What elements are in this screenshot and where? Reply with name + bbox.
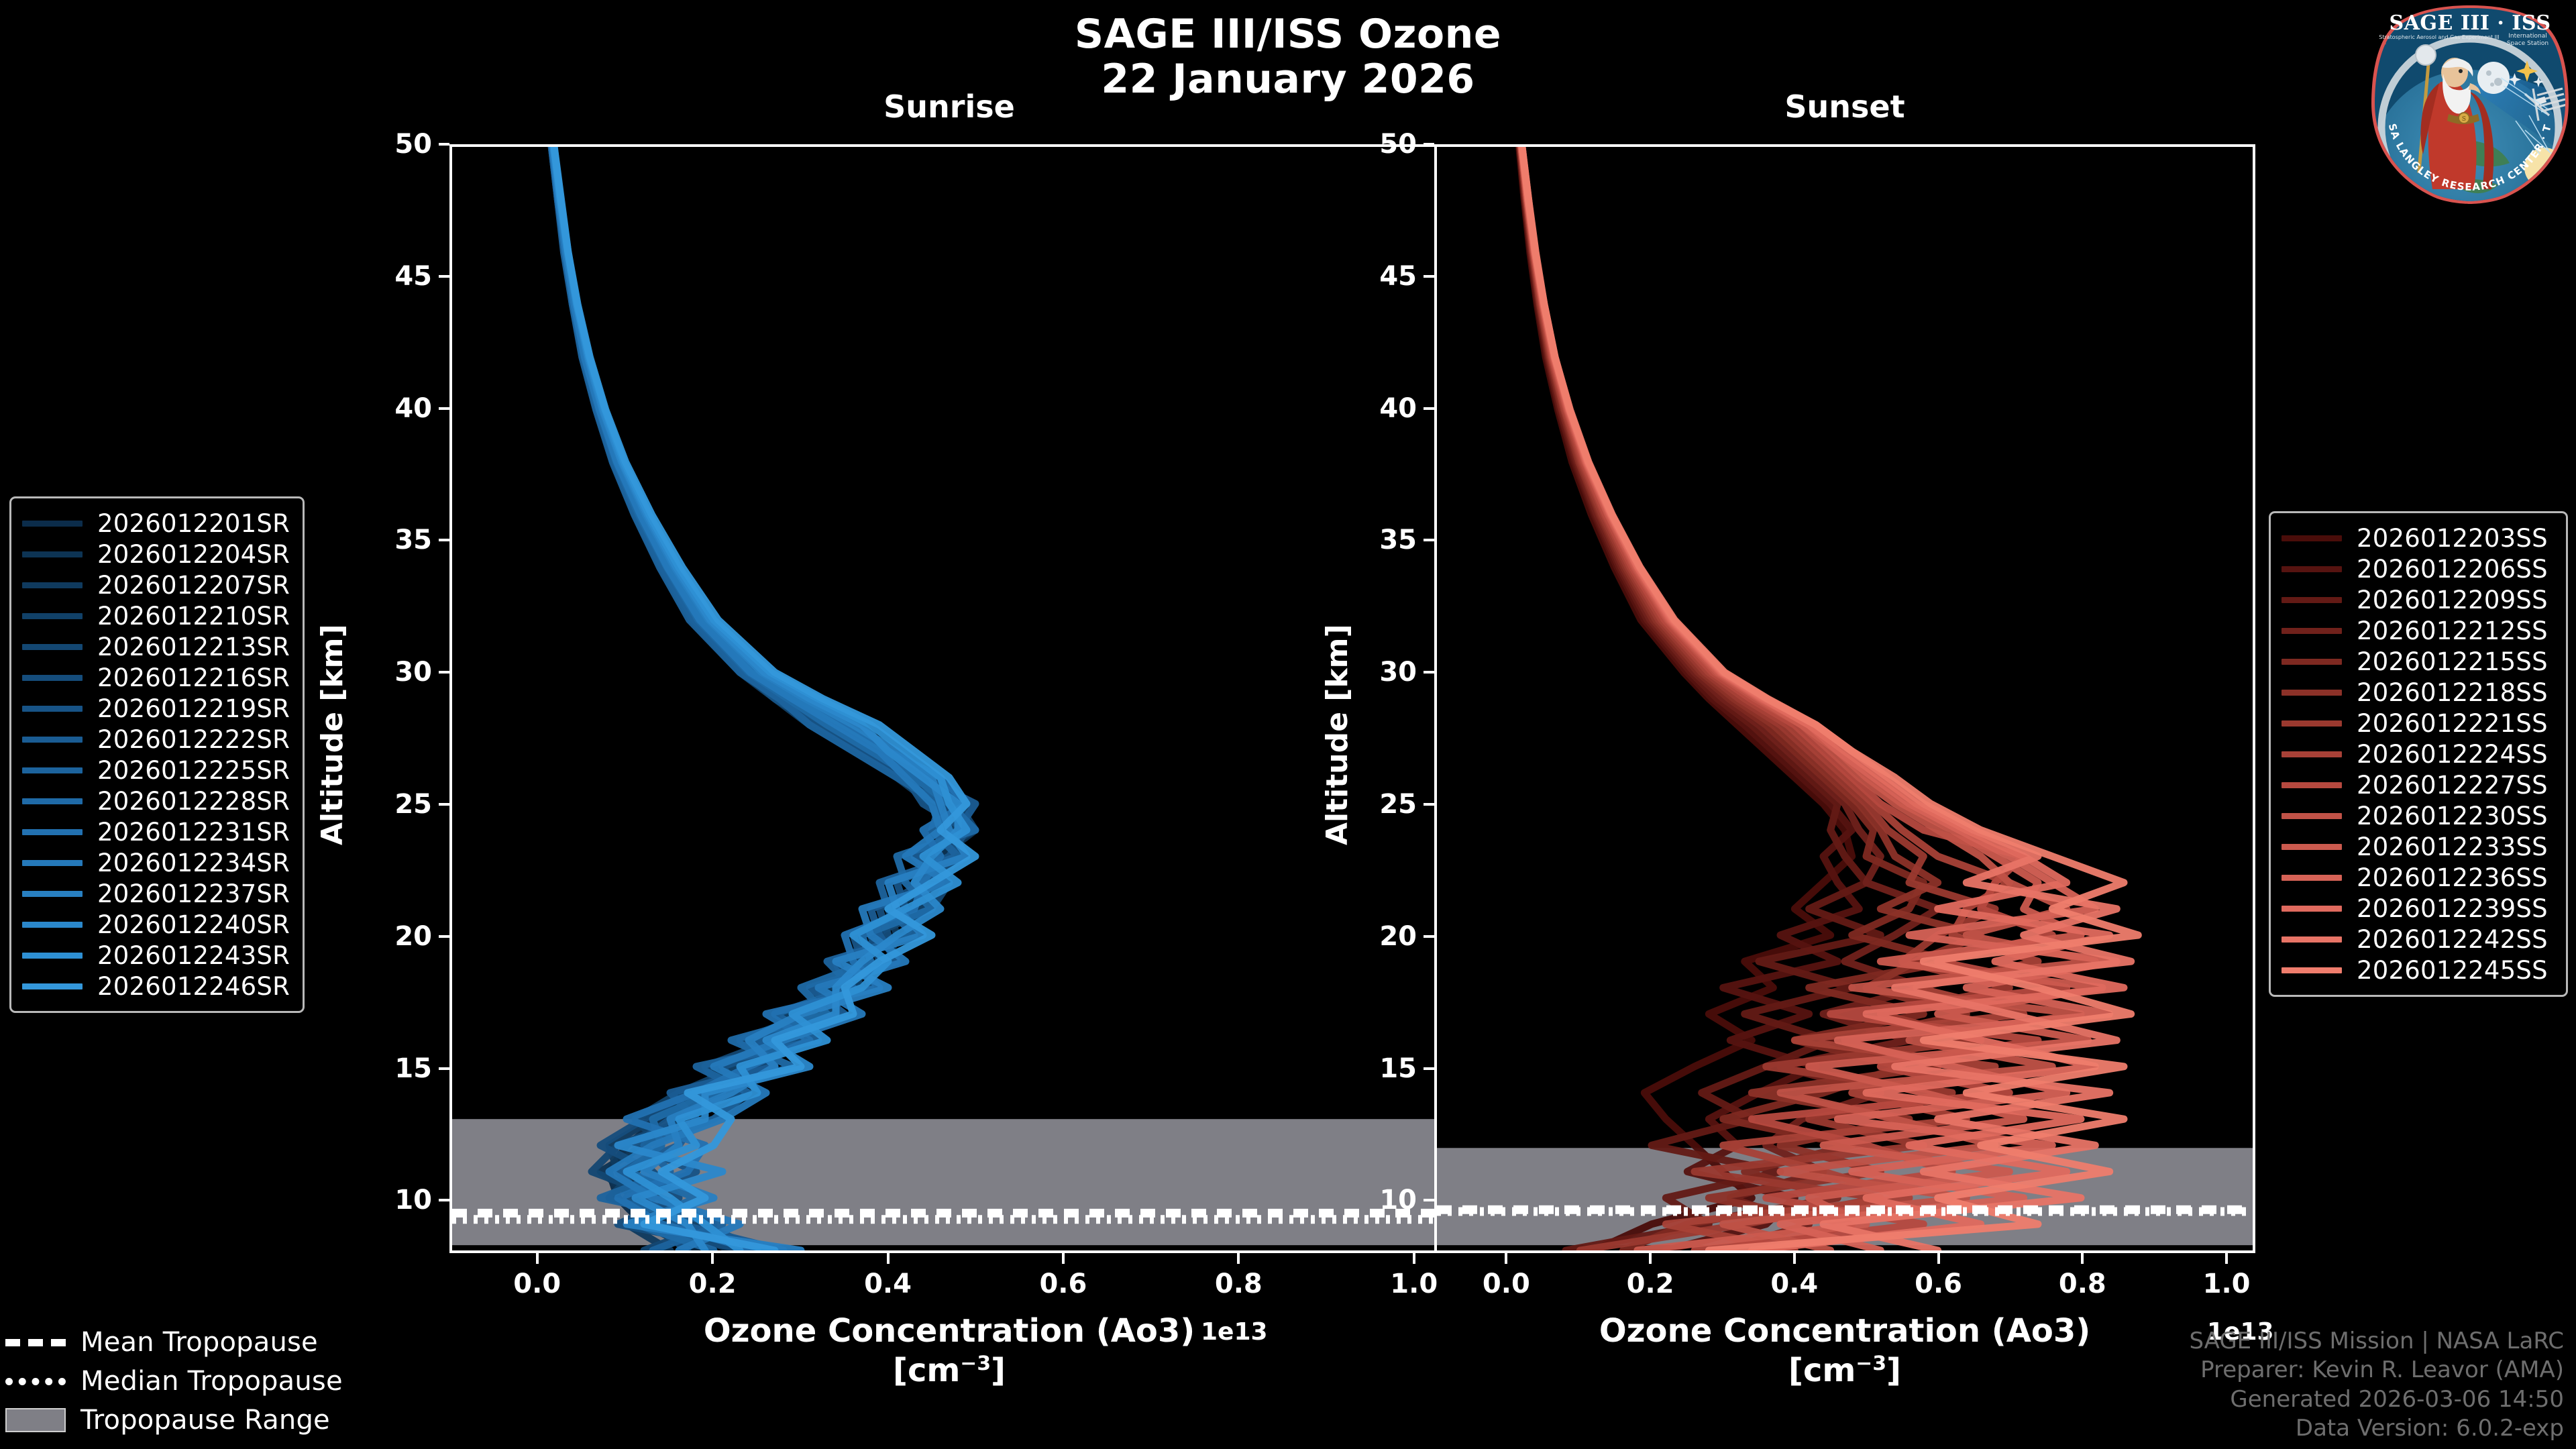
x-tick-label: 0.6	[1915, 1271, 1962, 1297]
legend-item-label: 2026012224SS	[2357, 740, 2548, 769]
sunset-x-axis-units: [cm−3]	[1434, 1351, 2255, 1391]
legend-item[interactable]: 2026012212SS	[2282, 615, 2554, 646]
legend-item-label: 2026012222SR	[97, 725, 290, 754]
y-tick-mark	[1424, 143, 1434, 146]
sunrise-profile-curves	[452, 147, 1446, 1250]
legend-item-label: 2026012239SS	[2357, 894, 2548, 923]
legend-item-label: 2026012243SR	[97, 941, 290, 970]
legend-item-label: 2026012236SS	[2357, 863, 2548, 892]
legend-item-label: 2026012225SR	[97, 756, 290, 785]
legend-color-swatch	[22, 983, 83, 989]
y-tick-mark	[439, 539, 449, 541]
x-tick-label: 0.4	[864, 1271, 912, 1297]
credits-line: Preparer: Kevin R. Leavor (AMA)	[2189, 1356, 2564, 1385]
legend-item-label: 2026012209SS	[2357, 586, 2548, 614]
legend-item-label: 2026012246SR	[97, 972, 290, 1001]
median-tropopause-swatch	[5, 1378, 66, 1385]
legend-color-swatch	[22, 613, 83, 619]
legend-item[interactable]: 2026012213SR	[22, 631, 290, 662]
x-tick-label: 0.8	[1215, 1271, 1263, 1297]
profile-line	[553, 147, 967, 1250]
tropopause-legend[interactable]: Mean TropopauseMedian TropopauseTropopau…	[5, 1323, 321, 1440]
profile-line	[553, 147, 967, 1250]
legend-item-label: 2026012213SR	[97, 633, 290, 661]
profile-line	[551, 147, 967, 1250]
credits-block: SAGE III/ISS Mission | NASA LaRCPreparer…	[2189, 1327, 2564, 1444]
profile-line	[553, 147, 967, 1250]
legend-item-label: 2026012201SR	[97, 509, 290, 538]
x-tick-label: 1.0	[1390, 1271, 1438, 1297]
x-tick-mark	[711, 1253, 714, 1264]
y-tick-mark	[1424, 407, 1434, 410]
legend-color-swatch	[22, 829, 83, 835]
profile-line	[553, 147, 967, 1250]
legend-item[interactable]: 2026012239SS	[2282, 893, 2554, 924]
legend-color-swatch	[22, 644, 83, 650]
legend-item-label: 2026012227SS	[2357, 771, 2548, 800]
legend-color-swatch	[22, 737, 83, 743]
legend-item[interactable]: 2026012237SR	[22, 878, 290, 909]
y-tick-label: 50	[362, 131, 432, 158]
legend-item[interactable]: 2026012219SR	[22, 693, 290, 724]
legend-color-swatch	[22, 582, 83, 588]
legend-color-swatch	[2282, 535, 2342, 541]
sunset-x-axis-label: Ozone Concentration (Ao3) [cm−3]	[1434, 1311, 2255, 1390]
y-tick-label: 50	[1347, 131, 1417, 158]
legend-item[interactable]: Mean Tropopause	[5, 1323, 321, 1362]
sunset-legend[interactable]: 2026012203SS2026012206SS2026012209SS2026…	[2269, 511, 2568, 997]
legend-item[interactable]: 2026012240SR	[22, 909, 290, 940]
y-tick-label: 30	[1347, 659, 1417, 686]
legend-color-swatch	[22, 953, 83, 959]
legend-item-label: 2026012233SS	[2357, 833, 2548, 861]
x-tick-mark	[2081, 1253, 2084, 1264]
y-tick-mark	[1424, 1199, 1434, 1201]
legend-item[interactable]: 2026012231SR	[22, 816, 290, 847]
y-tick-mark	[1424, 1067, 1434, 1070]
x-tick-mark	[2225, 1253, 2228, 1264]
legend-color-swatch	[22, 891, 83, 897]
title-line-1: SAGE III/ISS Ozone	[0, 12, 2576, 57]
sunset-y-axis-label: Altitude [km]	[1320, 624, 1354, 845]
legend-item[interactable]: Median Tropopause	[5, 1362, 321, 1401]
profile-line	[553, 147, 967, 1250]
patch-subtitle-left: Stratospheric Aerosol and Gas Experiment…	[2379, 34, 2499, 40]
y-tick-label: 10	[1347, 1187, 1417, 1214]
y-tick-label: 40	[362, 395, 432, 422]
profile-line	[554, 147, 967, 1250]
x-tick-mark	[1793, 1253, 1796, 1264]
y-tick-label: 25	[362, 791, 432, 818]
legend-item[interactable]: 2026012243SR	[22, 940, 290, 971]
y-tick-label: 35	[362, 527, 432, 553]
legend-color-swatch	[2282, 875, 2342, 881]
legend-item[interactable]: 2026012233SS	[2282, 831, 2554, 862]
sunrise-x-axis-units: [cm−3]	[449, 1351, 1449, 1391]
mean-tropopause-swatch	[5, 1339, 66, 1346]
credits-line: Data Version: 6.0.2-exp	[2189, 1414, 2564, 1444]
legend-color-swatch	[2282, 782, 2342, 788]
legend-item[interactable]: 2026012216SR	[22, 662, 290, 693]
legend-item[interactable]: 2026012242SS	[2282, 924, 2554, 955]
legend-item-label: 2026012212SS	[2357, 616, 2548, 645]
legend-color-swatch	[2282, 936, 2342, 943]
x-tick-mark	[1937, 1253, 1940, 1264]
legend-color-swatch	[22, 675, 83, 681]
y-tick-mark	[1424, 539, 1434, 541]
profile-line	[553, 147, 976, 1250]
legend-color-swatch	[2282, 720, 2342, 727]
y-tick-mark	[439, 935, 449, 938]
credits-line: Generated 2026-03-06 14:50	[2189, 1385, 2564, 1415]
y-tick-mark	[439, 671, 449, 674]
legend-item-label: 2026012221SS	[2357, 709, 2548, 738]
legend-item[interactable]: 2026012201SR	[22, 508, 290, 539]
legend-item[interactable]: 2026012209SS	[2282, 584, 2554, 615]
sunset-plot-area	[1434, 144, 2255, 1253]
legend-item-label: 2026012216SR	[97, 663, 290, 692]
legend-item-label: Median Tropopause	[80, 1366, 343, 1397]
y-tick-mark	[439, 1067, 449, 1070]
patch-title: SAGE III · ISS	[2389, 11, 2551, 35]
y-tick-mark	[439, 143, 449, 146]
x-tick-mark	[887, 1253, 890, 1264]
legend-item[interactable]: 2026012228SR	[22, 786, 290, 816]
legend-item-label: 2026012207SR	[97, 571, 290, 600]
credits-line: SAGE III/ISS Mission | NASA LaRC	[2189, 1327, 2564, 1356]
legend-item[interactable]: 2026012218SS	[2282, 677, 2554, 708]
x-tick-label: 0.2	[1627, 1271, 1674, 1297]
patch-subtitle-right-2: Space Station	[2507, 40, 2548, 47]
legend-item[interactable]: 2026012246SR	[22, 971, 290, 1002]
x-tick-mark	[1649, 1253, 1652, 1264]
legend-color-swatch	[2282, 967, 2342, 973]
x-tick-mark	[1062, 1253, 1065, 1264]
legend-color-swatch	[2282, 906, 2342, 912]
legend-item[interactable]: 2026012221SS	[2282, 708, 2554, 739]
legend-item-label: 2026012237SR	[97, 879, 290, 908]
x-tick-mark	[1413, 1253, 1415, 1264]
y-tick-label: 20	[362, 923, 432, 950]
tropopause-range-band	[452, 1119, 1446, 1245]
y-tick-mark	[1424, 803, 1434, 806]
legend-item-label: 2026012234SR	[97, 849, 290, 877]
sunrise-y-axis-label: Altitude [km]	[315, 624, 350, 845]
sage-iii-iss-mission-patch-logo: S SAGE III · ISS Stratospheric Aerosol a…	[2369, 3, 2571, 204]
legend-color-swatch	[2282, 690, 2342, 696]
patch-subtitle-right-1: International	[2508, 33, 2546, 40]
legend-item[interactable]: 2026012245SS	[2282, 955, 2554, 985]
sunrise-axis-offset-text: 1e13	[1201, 1318, 1268, 1346]
x-tick-mark	[1505, 1253, 1507, 1264]
legend-color-swatch	[2282, 628, 2342, 634]
legend-item-label: Mean Tropopause	[80, 1327, 318, 1358]
legend-item[interactable]: 2026012210SR	[22, 600, 290, 631]
legend-item[interactable]: 2026012236SS	[2282, 862, 2554, 893]
legend-color-swatch	[2282, 597, 2342, 603]
legend-item[interactable]: 2026012227SS	[2282, 769, 2554, 800]
legend-item-label: 2026012210SR	[97, 602, 290, 631]
legend-item-label: 2026012215SS	[2357, 647, 2548, 676]
legend-item-label: 2026012219SR	[97, 694, 290, 723]
y-tick-label: 15	[1347, 1055, 1417, 1082]
y-tick-mark	[439, 1199, 449, 1201]
legend-item[interactable]: 2026012224SS	[2282, 739, 2554, 769]
y-tick-label: 15	[362, 1055, 432, 1082]
y-tick-mark	[1424, 275, 1434, 278]
sunrise-legend[interactable]: 2026012201SR2026012204SR2026012207SR2026…	[9, 496, 305, 1013]
legend-color-swatch	[22, 706, 83, 712]
y-tick-mark	[1424, 935, 1434, 938]
legend-item-label: 2026012228SR	[97, 787, 290, 816]
legend-item[interactable]: 2026012206SS	[2282, 553, 2554, 584]
legend-color-swatch	[22, 767, 83, 773]
legend-item[interactable]: 2026012222SR	[22, 724, 290, 755]
legend-item-label: 2026012203SS	[2357, 524, 2548, 553]
y-tick-mark	[439, 407, 449, 410]
legend-color-swatch	[2282, 566, 2342, 572]
profile-line	[553, 147, 976, 1250]
legend-item-label: 2026012240SR	[97, 910, 290, 939]
legend-color-swatch	[2282, 844, 2342, 850]
y-tick-mark	[439, 803, 449, 806]
svg-text:S: S	[2462, 116, 2466, 123]
legend-item-label: 2026012206SS	[2357, 555, 2548, 584]
sunset-panel-title: Sunset	[1434, 89, 2255, 125]
y-tick-label: 10	[362, 1187, 432, 1214]
y-tick-label: 20	[1347, 923, 1417, 950]
legend-item[interactable]: 2026012203SS	[2282, 523, 2554, 553]
profile-line	[554, 147, 975, 1250]
x-tick-label: 0.8	[2059, 1271, 2106, 1297]
x-tick-label: 0.2	[689, 1271, 737, 1297]
y-tick-label: 25	[1347, 791, 1417, 818]
x-tick-label: 1.0	[2203, 1271, 2251, 1297]
legend-item-label: 2026012231SR	[97, 818, 290, 847]
legend-item[interactable]: 2026012215SS	[2282, 646, 2554, 677]
legend-item[interactable]: 2026012207SR	[22, 570, 290, 600]
legend-item[interactable]: 2026012230SS	[2282, 800, 2554, 831]
sunset-x-axis-label-text: Ozone Concentration (Ao3)	[1434, 1311, 2255, 1351]
legend-color-swatch	[22, 521, 83, 527]
sunrise-x-axis-label: Ozone Concentration (Ao3) [cm−3]	[449, 1311, 1449, 1390]
profile-line	[553, 147, 975, 1250]
legend-color-swatch	[22, 860, 83, 866]
legend-color-swatch	[2282, 813, 2342, 819]
y-tick-label: 40	[1347, 395, 1417, 422]
legend-item[interactable]: 2026012225SR	[22, 755, 290, 786]
x-tick-mark	[1237, 1253, 1240, 1264]
legend-item-label: 2026012218SS	[2357, 678, 2548, 707]
legend-item-label: 2026012242SS	[2357, 925, 2548, 954]
x-tick-label: 0.4	[1770, 1271, 1818, 1297]
legend-color-swatch	[22, 551, 83, 557]
legend-color-swatch	[2282, 659, 2342, 665]
legend-item[interactable]: 2026012234SR	[22, 847, 290, 878]
legend-color-swatch	[22, 922, 83, 928]
y-tick-mark	[1424, 671, 1434, 674]
legend-color-swatch	[2282, 751, 2342, 757]
sunrise-panel-title: Sunrise	[449, 89, 1449, 125]
sunset-profile-curves	[1437, 147, 2253, 1250]
y-tick-label: 35	[1347, 527, 1417, 553]
y-tick-label: 30	[362, 659, 432, 686]
tropopause-range-swatch	[5, 1408, 66, 1432]
y-tick-label: 45	[1347, 263, 1417, 290]
legend-item-label: Tropopause Range	[80, 1405, 330, 1436]
x-tick-mark	[536, 1253, 539, 1264]
x-tick-label: 0.6	[1039, 1271, 1087, 1297]
sunrise-x-axis-label-text: Ozone Concentration (Ao3)	[449, 1311, 1449, 1351]
x-tick-label: 0.0	[513, 1271, 561, 1297]
legend-item[interactable]: 2026012204SR	[22, 539, 290, 570]
legend-color-swatch	[22, 798, 83, 804]
legend-item-label: 2026012245SS	[2357, 956, 2548, 985]
y-tick-mark	[439, 275, 449, 278]
x-tick-label: 0.0	[1483, 1271, 1530, 1297]
profile-line	[553, 147, 976, 1250]
legend-item-label: 2026012204SR	[97, 540, 290, 569]
sunrise-plot-area	[449, 144, 1449, 1253]
y-tick-label: 45	[362, 263, 432, 290]
legend-item-label: 2026012230SS	[2357, 802, 2548, 830]
legend-item[interactable]: Tropopause Range	[5, 1401, 321, 1440]
